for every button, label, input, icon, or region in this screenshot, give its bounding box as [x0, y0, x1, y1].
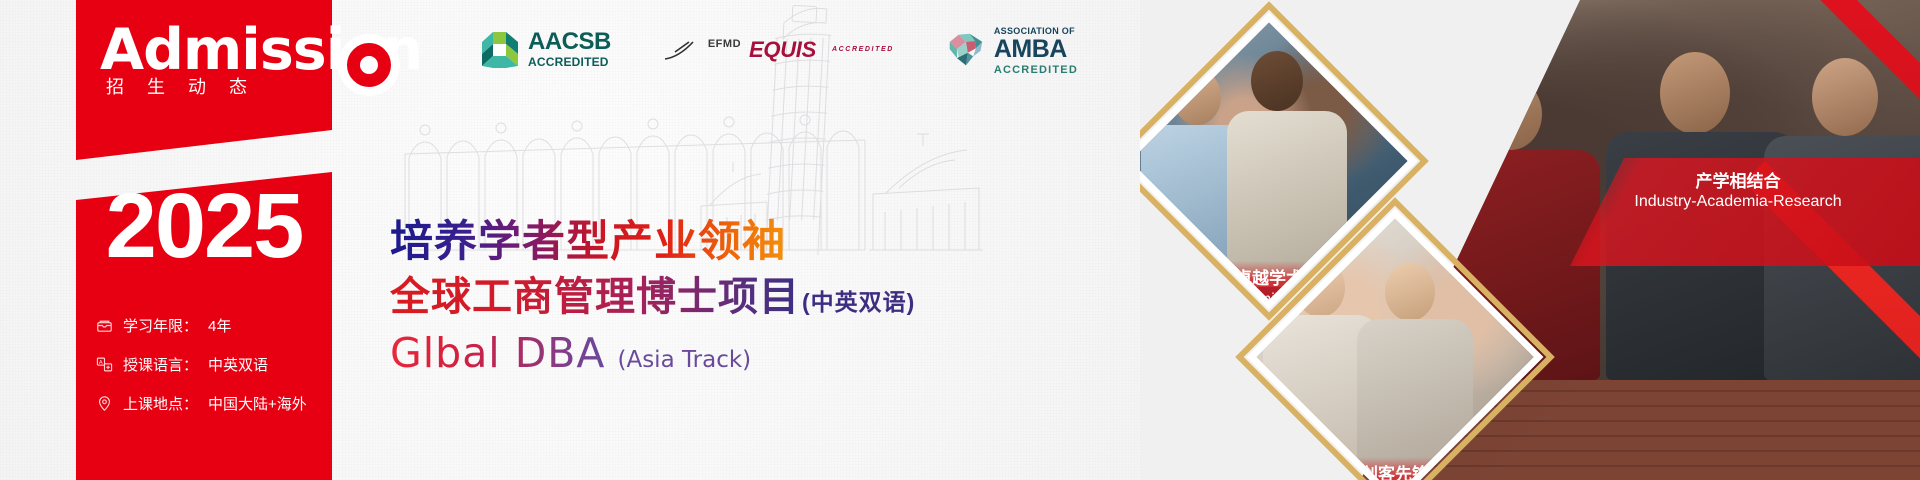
fact-location: 上课地点： 中国大陆+海外 [96, 393, 332, 414]
amba-logo: ASSOCIATION OF AMBA ACCREDITED [946, 22, 1078, 77]
amba-diamond-icon [946, 31, 986, 69]
program-title-en: Glbal DBA [390, 329, 605, 377]
admission-banner: Admission 招 生 动 态 2025 学习年限： 4年 [0, 0, 1920, 480]
fact-language: A 授课语言： 中英双语 [96, 354, 332, 375]
left-red-panel: Admission 招 生 动 态 2025 学习年限： 4年 [76, 0, 332, 480]
program-facts-list: 学习年限： 4年 A 授课语言： 中英双语 [96, 315, 332, 432]
person-head [1660, 52, 1730, 134]
program-title-en-row: Glbal DBA (Asia Track) [390, 329, 915, 377]
tagline: 培养学者型产业领袖 [390, 218, 915, 267]
equis-swoosh-icon [663, 39, 703, 61]
admission-logo: Admission 招 生 动 态 [76, 22, 376, 112]
fact-duration-value: 4年 [208, 315, 231, 336]
fact-language-value: 中英双语 [208, 354, 268, 375]
fact-language-label: 授课语言： [123, 354, 198, 375]
fact-location-value: 中国大陆+海外 [208, 393, 307, 414]
aacsb-logo: AACSB ACCREDITED [480, 30, 611, 70]
equis-title: EQUIS [749, 39, 816, 61]
fact-duration-label: 学习年限： [123, 315, 198, 336]
admission-ring-icon [338, 34, 400, 96]
accreditation-logos: AACSB ACCREDITED EFMD EQUIS ACCREDITED [480, 22, 1078, 77]
amba-title: AMBA [994, 35, 1067, 63]
aacsb-title: AACSB [528, 28, 611, 55]
program-title-cn-row: 全球工商管理博士项目 (中英双语) [390, 273, 915, 321]
industry-research-caption-en: Industry-Academia-Research [1570, 192, 1906, 211]
admission-logo-text: Admission [100, 22, 376, 79]
program-title-en-note: (Asia Track) [617, 347, 751, 373]
aacsb-mark-icon [480, 30, 520, 70]
person-head [1812, 58, 1878, 136]
amba-subtitle: ACCREDITED [994, 64, 1078, 76]
person-head [1385, 263, 1435, 321]
program-title-cn-note: (中英双语) [802, 289, 915, 317]
fact-location-label: 上课地点： [123, 393, 198, 414]
aacsb-subtitle: ACCREDITED [528, 55, 609, 69]
fact-duration: 学习年限： 4年 [96, 315, 332, 336]
industry-research-caption-cn: 产学相结合 [1570, 172, 1906, 192]
equis-subtitle: ACCREDITED [832, 46, 894, 53]
program-title-cn: 全球工商管理博士项目 [390, 273, 800, 321]
location-icon [96, 395, 113, 412]
industry-research-card[interactable]: 产学相结合 Industry-Academia-Research [1570, 158, 1920, 266]
equis-logo: EFMD EQUIS ACCREDITED [663, 39, 894, 61]
calendar-icon [96, 317, 113, 334]
headline-block: 培养学者型产业领袖 全球工商管理博士项目 (中英双语) Glbal DBA (A… [390, 218, 915, 377]
industry-research-caption: 产学相结合 Industry-Academia-Research [1570, 172, 1906, 212]
photo-collage: 卓越学术 Academic Rigor 创客先锋 Early Makers [1140, 0, 1920, 480]
person-head [1251, 51, 1303, 111]
language-icon: A [96, 356, 113, 373]
svg-text:A: A [99, 360, 103, 366]
year-label: 2025 [76, 180, 332, 272]
efmd-label: EFMD [708, 39, 741, 50]
